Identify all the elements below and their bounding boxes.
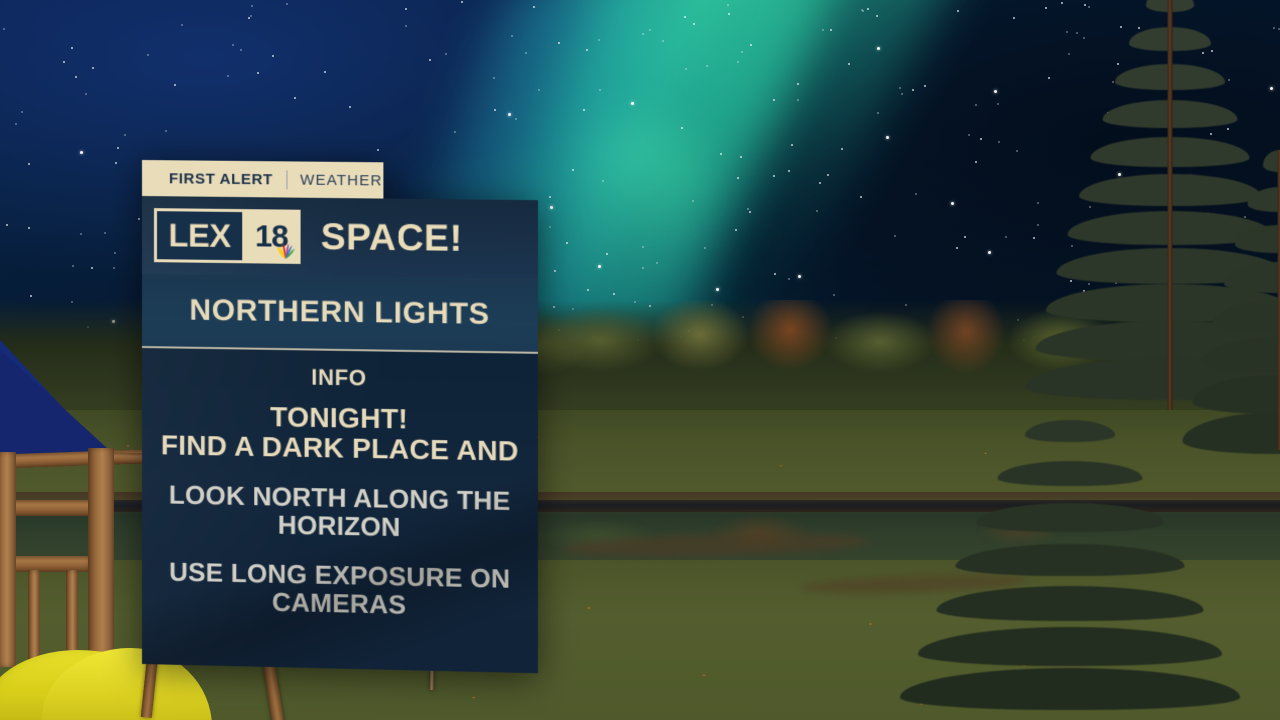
tip-block-look-north: LOOK NORTH ALONG THE HORIZON <box>154 482 526 545</box>
first-alert-weather-tag: FIRST ALERT WEATHER <box>142 160 383 199</box>
playset-slat-b <box>66 570 78 662</box>
station-channel-number: 18 <box>242 212 297 261</box>
playset-slat-a <box>28 570 40 662</box>
section-label: INFO <box>154 362 526 394</box>
tip-block-long-exposure: USE LONG EXPOSURE ON CAMERAS <box>154 559 526 622</box>
tag-divider <box>286 170 287 189</box>
nbc-peacock-icon <box>274 241 296 261</box>
panel-headline: NORTHERN LIGHTS <box>142 274 538 354</box>
headline-text: NORTHERN LIGHTS <box>189 294 489 332</box>
panel-title: SPACE! <box>321 216 463 260</box>
panel-header: LEX 18 SPACE! <box>142 196 538 279</box>
panel-body: INFO TONIGHT! FIND A DARK PLACE AND LOOK… <box>142 348 538 673</box>
tip-line: FIND A DARK PLACE AND <box>154 430 526 466</box>
brand-label: FIRST ALERT <box>169 170 273 188</box>
station-callsign: LEX <box>156 211 243 260</box>
broadcast-screenshot: FIRST ALERT WEATHER LEX 18 <box>0 0 1280 720</box>
weather-graphic-panel: FIRST ALERT WEATHER LEX 18 <box>142 160 538 673</box>
lex18-logo: LEX 18 <box>154 208 301 264</box>
tip-block-tonight: TONIGHT! FIND A DARK PLACE AND <box>154 400 526 466</box>
playset-post-left <box>0 452 16 667</box>
category-label: WEATHER <box>300 171 382 189</box>
